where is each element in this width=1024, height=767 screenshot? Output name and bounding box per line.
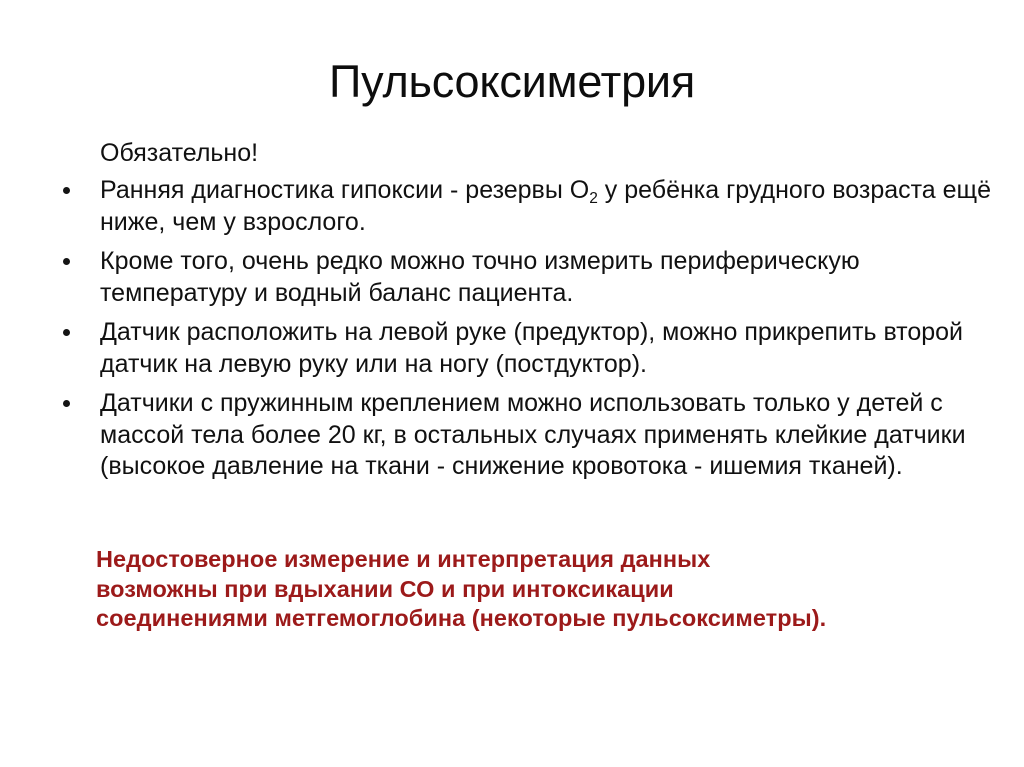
- bullet-point-icon: [63, 400, 70, 407]
- warning-paragraph: Недостоверное измерение и интерпретация …: [96, 545, 996, 634]
- list-item-text: Кроме того, очень редко можно точно изме…: [100, 246, 1000, 309]
- intro-statement: Обязательно!: [100, 138, 1000, 169]
- list-item-text: Датчики с пружинным креплением можно исп…: [100, 388, 1000, 483]
- bullet-list: Ранняя диагностика гипоксии - резервы О2…: [56, 175, 1000, 483]
- bullet-point-icon: [63, 329, 70, 336]
- list-item-peripheral-temperature-water-balance: Кроме того, очень редко можно точно изме…: [56, 246, 1000, 309]
- subscript-two: 2: [589, 190, 598, 207]
- warning-line-2: возможны при вдыхании СО и при интоксика…: [96, 575, 996, 605]
- page-title: Пульсоксиметрия: [0, 56, 1024, 108]
- list-item-text: Датчик расположить на левой руке (предук…: [100, 317, 1000, 380]
- list-item-early-hypoxia-diagnosis: Ранняя диагностика гипоксии - резервы О2…: [56, 175, 1000, 238]
- list-item-spring-clip-sensors: Датчики с пружинным креплением можно исп…: [56, 388, 1000, 483]
- slide-body: Обязательно! Ранняя диагностика гипоксии…: [56, 138, 1000, 483]
- list-item-text: Ранняя диагностика гипоксии - резервы О2…: [100, 175, 1000, 238]
- list-item-text-prefix: Ранняя диагностика гипоксии - резервы О: [100, 176, 589, 204]
- list-item-sensor-placement: Датчик расположить на левой руке (предук…: [56, 317, 1000, 380]
- warning-line-1: Недостоверное измерение и интерпретация …: [96, 545, 996, 575]
- warning-line-3: соединениями метгемоглобина (некоторые п…: [96, 604, 996, 634]
- bullet-point-icon: [63, 258, 70, 265]
- bullet-point-icon: [63, 187, 70, 194]
- presentation-slide: Пульсоксиметрия Обязательно! Ранняя диаг…: [0, 0, 1024, 767]
